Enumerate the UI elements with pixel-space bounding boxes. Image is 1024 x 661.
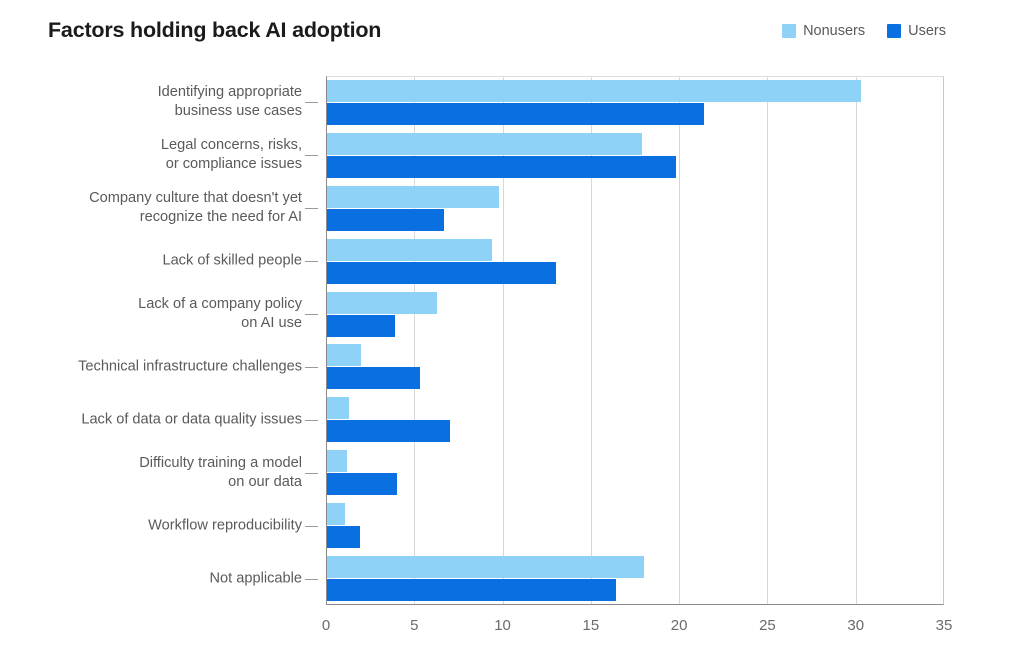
y-axis-tick [305,155,318,156]
x-axis-label: 35 [936,617,953,634]
plot-area [326,76,944,605]
plot-frame [326,76,944,605]
y-axis-label: Identifying appropriate business use cas… [158,83,302,121]
y-axis-label: Workflow reproducibility [148,516,302,535]
y-axis-label: Not applicable [210,569,303,588]
x-axis-label: 5 [410,617,418,634]
y-axis-tick [305,314,318,315]
y-axis-label: Lack of a company policy on AI use [138,295,302,333]
y-axis-tick [305,367,318,368]
x-axis-label: 20 [671,617,688,634]
y-axis-tick [305,579,318,580]
x-axis-label: 10 [494,617,511,634]
y-axis: Identifying appropriate business use cas… [0,76,318,605]
x-axis-label: 15 [583,617,600,634]
y-axis-label: Legal concerns, risks, or compliance iss… [161,136,302,174]
y-axis-tick [305,208,318,209]
legend-swatch-icon [887,24,901,38]
y-axis-label: Company culture that doesn't yet recogni… [89,189,302,227]
chart-container: Factors holding back AI adoption Nonuser… [0,0,1024,661]
x-axis-label: 25 [759,617,776,634]
x-axis: 05101520253035 [326,609,944,649]
y-axis-tick [305,473,318,474]
y-axis-tick [305,102,318,103]
legend-item-label: Nonusers [803,23,865,39]
legend-swatch-icon [782,24,796,38]
y-axis-label: Technical infrastructure challenges [78,357,302,376]
y-axis-tick [305,261,318,262]
y-axis-tick [305,420,318,421]
y-axis-label: Difficulty training a model on our data [139,454,302,492]
y-axis-label: Lack of data or data quality issues [81,410,302,429]
legend-item-users[interactable]: Users [887,23,946,39]
chart-title: Factors holding back AI adoption [48,18,381,43]
legend-item-nonusers[interactable]: Nonusers [782,23,865,39]
y-axis-tick [305,526,318,527]
x-axis-label: 30 [847,617,864,634]
x-axis-label: 0 [322,617,330,634]
y-axis-label: Lack of skilled people [162,252,302,271]
chart-legend: NonusersUsers [782,23,946,39]
legend-item-label: Users [908,23,946,39]
